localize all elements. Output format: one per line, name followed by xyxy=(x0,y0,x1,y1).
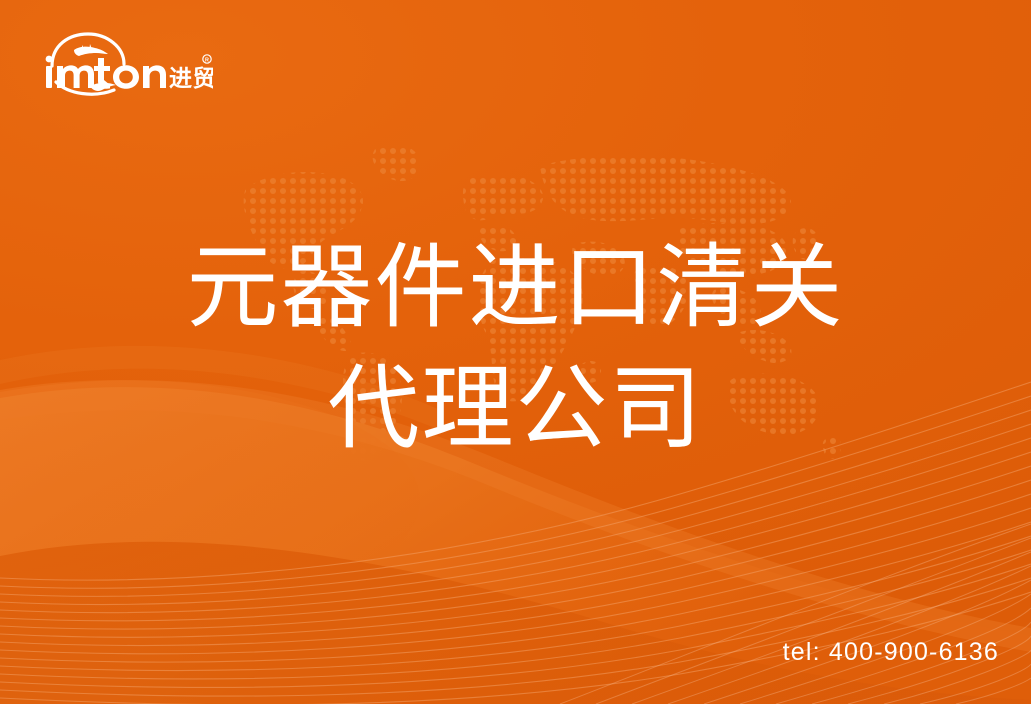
headline-line-2: 代理公司 xyxy=(0,349,1031,470)
svg-text:进贸通: 进贸通 xyxy=(169,65,213,91)
logo-wordmark xyxy=(46,56,166,89)
contact-telephone[interactable]: tel: 400-900-6136 xyxy=(783,638,999,667)
svg-text:R: R xyxy=(205,58,209,64)
page-title: 元器件进口清关 代理公司 xyxy=(0,228,1031,471)
promo-banner: 进贸通 R 元器件进口清关 代理公司 tel: 400-900-6136 xyxy=(0,0,1031,704)
logo-chinese-name: 进贸通 xyxy=(169,65,213,91)
brand-logo[interactable]: 进贸通 R xyxy=(38,28,213,100)
headline-line-1: 元器件进口清关 xyxy=(0,228,1031,349)
